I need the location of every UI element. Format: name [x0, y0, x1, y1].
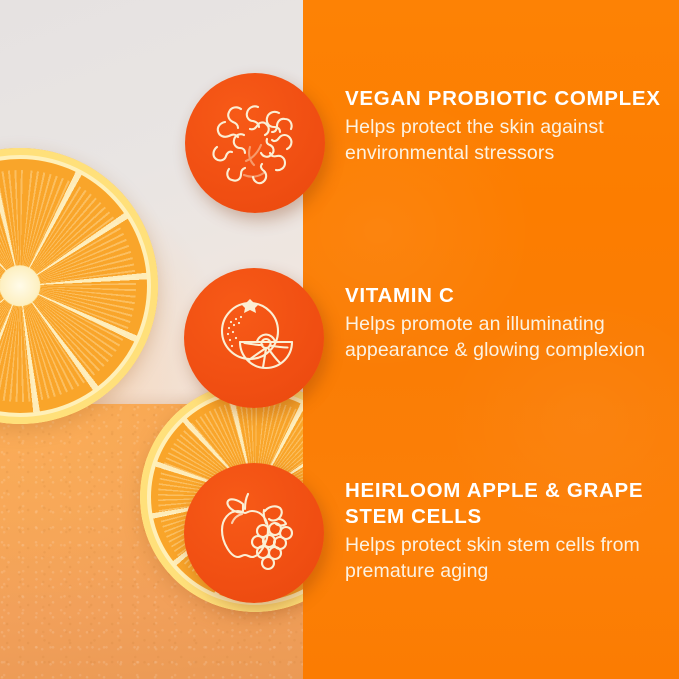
vitaminc-description: Helps promote an illuminating appearance… [345, 312, 670, 363]
vitaminc-heading: VITAMIN C [345, 283, 670, 309]
orange-fruit-slice-icon [202, 286, 306, 390]
probiotic-badge [185, 73, 325, 213]
stemcells-text-block: HEIRLOOM APPLE & GRAPE STEM CELLS Helps … [345, 478, 670, 585]
infographic-canvas: VEGAN PROBIOTIC COMPLEX Helps protect th… [0, 0, 679, 679]
stemcells-description: Helps protect skin stem cells from prema… [345, 533, 670, 584]
stemcells-badge [184, 463, 324, 603]
probiotic-description: Helps protect the skin against environme… [345, 115, 670, 166]
probiotic-text-block: VEGAN PROBIOTIC COMPLEX Helps protect th… [345, 86, 670, 167]
vitaminc-badge [184, 268, 324, 408]
stemcells-heading: HEIRLOOM APPLE & GRAPE STEM CELLS [345, 478, 670, 530]
vitaminc-text-block: VITAMIN C Helps promote an illuminating … [345, 283, 670, 364]
apple-grape-icon [202, 481, 306, 585]
probiotic-heading: VEGAN PROBIOTIC COMPLEX [345, 86, 670, 112]
probiotic-bacteria-icon [203, 91, 307, 195]
